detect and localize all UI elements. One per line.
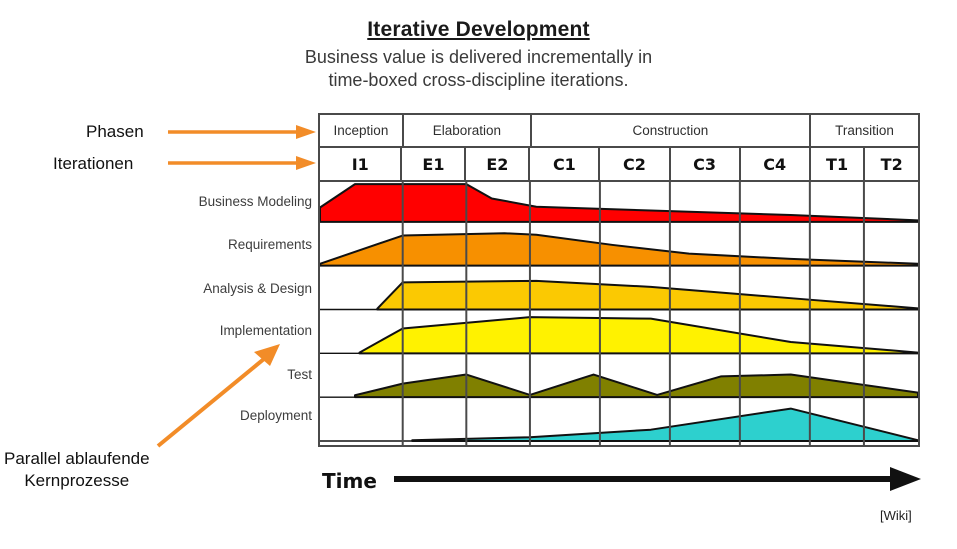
- subtitle-line-2: time-boxed cross-discipline iterations.: [0, 69, 957, 92]
- iteration-label: T2: [881, 155, 903, 174]
- hump-requirements: [320, 233, 918, 265]
- hump-deployment: [412, 409, 918, 441]
- iteration-label: I1: [352, 155, 369, 174]
- iteration-label: T1: [826, 155, 848, 174]
- phase-cell-inception[interactable]: Inception: [320, 115, 404, 146]
- chart-header: Iterative Development Business value is …: [0, 18, 957, 92]
- iteration-label: C3: [693, 155, 716, 174]
- phase-cell-construction[interactable]: Construction: [532, 115, 811, 146]
- iteration-label: E1: [422, 155, 444, 174]
- chart-subtitle: Business value is delivered incrementall…: [0, 46, 957, 92]
- iteration-cell-t1[interactable]: T1: [811, 148, 866, 180]
- discipline-label-test: Test: [152, 367, 312, 382]
- hump-implementation: [359, 317, 918, 353]
- annotation-phasen: Phasen: [86, 122, 144, 142]
- iterative-development-chart: InceptionElaborationConstructionTransiti…: [318, 113, 920, 447]
- discipline-label-analysis-design: Analysis & Design: [152, 281, 312, 296]
- iteration-cell-c1[interactable]: C1: [530, 148, 600, 180]
- phase-cell-elaboration[interactable]: Elaboration: [404, 115, 532, 146]
- annotation-parallel-kernprozesse: Parallel ablaufende Kernprozesse: [4, 448, 150, 492]
- discipline-label-deployment: Deployment: [152, 408, 312, 423]
- time-axis: Time: [322, 466, 922, 500]
- time-axis-label: Time: [322, 469, 377, 493]
- phase-label: Transition: [835, 123, 894, 138]
- iteration-label: E2: [486, 155, 508, 174]
- annotation-parallel-line-1: Parallel ablaufende: [4, 448, 150, 470]
- iteration-cell-c4[interactable]: C4: [741, 148, 811, 180]
- phase-label: Elaboration: [433, 123, 501, 138]
- iteration-label: C2: [623, 155, 646, 174]
- subtitle-line-1: Business value is delivered incrementall…: [0, 46, 957, 69]
- phase-label: Construction: [632, 123, 708, 138]
- phase-cell-transition[interactable]: Transition: [811, 115, 918, 146]
- arrow-phasen-icon: [168, 122, 318, 142]
- iteration-cell-c2[interactable]: C2: [600, 148, 670, 180]
- source-credit: [Wiki]: [880, 508, 912, 523]
- page-title: Iterative Development: [0, 18, 957, 42]
- hump-business-modeling: [320, 184, 918, 222]
- hump-analysis-design: [377, 281, 918, 310]
- discipline-label-list: Business Modeling Requirements Analysis …: [150, 185, 312, 435]
- iteration-cell-e1[interactable]: E1: [402, 148, 466, 180]
- discipline-label-requirements: Requirements: [152, 237, 312, 252]
- humps-svg: [320, 182, 918, 445]
- iteration-cell-c3[interactable]: C3: [671, 148, 741, 180]
- annotation-iterationen: Iterationen: [53, 154, 133, 174]
- phase-label: Inception: [334, 123, 389, 138]
- discipline-humps-plot: [320, 182, 918, 445]
- discipline-label-implementation: Implementation: [152, 323, 312, 338]
- arrow-iterationen-icon: [168, 153, 318, 173]
- annotation-parallel-line-2: Kernprozesse: [4, 470, 150, 492]
- iteration-cell-t2[interactable]: T2: [865, 148, 918, 180]
- time-arrow-icon: [394, 466, 922, 492]
- iteration-label: C4: [763, 155, 786, 174]
- iteration-cell-e2[interactable]: E2: [466, 148, 530, 180]
- hump-test: [355, 375, 918, 398]
- phase-header-row: InceptionElaborationConstructionTransiti…: [320, 115, 918, 148]
- iteration-header-row: I1E1E2C1C2C3C4T1T2: [320, 148, 918, 182]
- iteration-label: C1: [553, 155, 576, 174]
- iteration-cell-i1[interactable]: I1: [320, 148, 402, 180]
- discipline-label-business-modeling: Business Modeling: [152, 194, 312, 209]
